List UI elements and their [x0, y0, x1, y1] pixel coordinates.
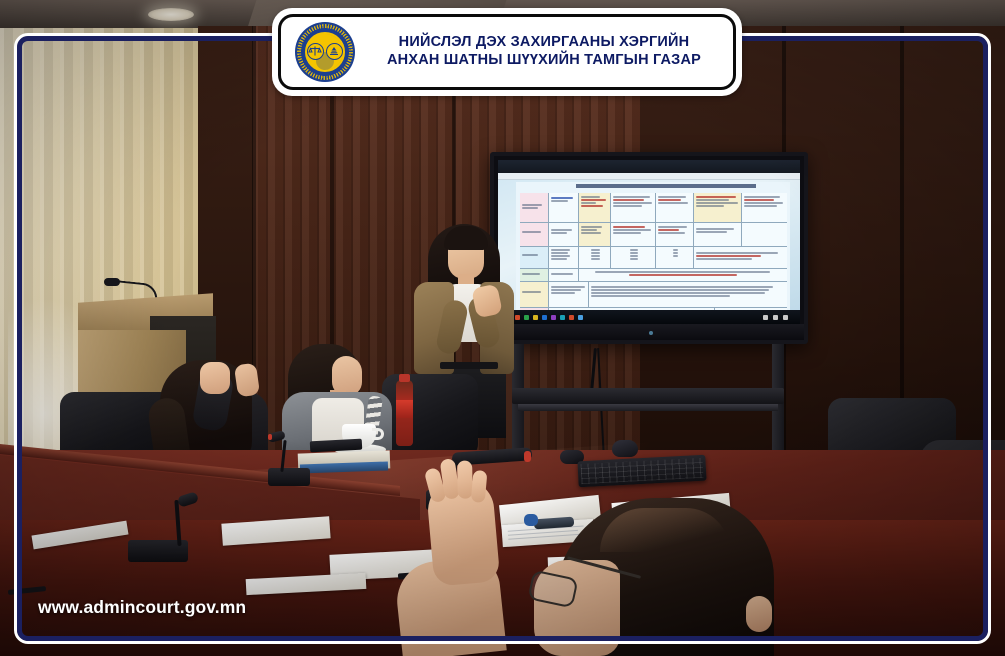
room-photograph	[0, 0, 1005, 656]
attendee-hand-left	[200, 362, 230, 394]
table-cell	[520, 282, 549, 307]
court-seal-logo-icon	[295, 22, 355, 82]
table-cell	[589, 282, 787, 307]
finger	[471, 470, 488, 503]
table-cell	[742, 193, 787, 222]
table-cell	[656, 193, 693, 222]
ceiling-light	[148, 8, 194, 21]
table-cell	[549, 282, 589, 307]
table-row	[520, 247, 787, 269]
keyboard-keys	[581, 458, 704, 484]
foreground-raised-hand	[426, 477, 501, 586]
presentation-display	[490, 152, 808, 344]
table-cell	[611, 193, 656, 222]
table-row	[520, 223, 787, 247]
table-cell	[520, 269, 549, 281]
document-title-line	[576, 184, 756, 188]
microphone-base	[268, 468, 310, 486]
app-title-bar	[498, 160, 800, 173]
bottle-label	[396, 400, 413, 418]
organization-name-line-2: АНХАН ШАТНЫ ШҮҮХИЙН ТАМГЫН ГАЗАР	[365, 52, 723, 70]
table-cell	[520, 193, 549, 222]
table-cell	[579, 247, 611, 268]
table-cell	[694, 223, 742, 246]
presenter-belt	[440, 362, 498, 369]
header-banner: НИЙСЛЭЛ ДЭХ ЗАХИРГААНЫ ХЭРГИЙН АНХАН ШАТ…	[278, 14, 736, 90]
table-cell	[549, 193, 578, 222]
table-row	[520, 282, 787, 308]
display-screen	[498, 160, 800, 324]
foreground-hair-sheen	[600, 508, 730, 552]
table-row	[520, 193, 787, 223]
display-stand-shelf	[512, 388, 784, 404]
spreadsheet-table	[520, 193, 787, 307]
header-banner-text: НИЙСЛЭЛ ДЭХ ЗАХИРГААНЫ ХЭРГИЙН АНХАН ШАТ…	[365, 34, 723, 69]
microphone-indicator	[268, 434, 272, 440]
logo-soyombo-symbol	[326, 43, 343, 60]
table-cell	[579, 223, 611, 246]
table-cell	[656, 247, 693, 268]
spreadsheet-document	[516, 182, 790, 310]
windows-taskbar	[498, 310, 800, 324]
microphone-indicator	[524, 451, 531, 462]
organization-name-line-1: НИЙСЛЭЛ ДЭХ ЗАХИРГААНЫ ХЭРГИЙН	[365, 34, 723, 52]
podium-microphone-head	[104, 278, 120, 286]
screenshot-stage: НИЙСЛЭЛ ДЭХ ЗАХИРГААНЫ ХЭРГИЙН АНХАН ШАТ…	[0, 0, 1005, 656]
table-cell	[579, 193, 611, 222]
table-cell	[611, 247, 656, 268]
table-cell	[549, 247, 578, 268]
table-cell	[549, 223, 578, 246]
logo-scales-symbol	[307, 43, 324, 60]
bottle-cap	[399, 374, 410, 382]
table-cell	[520, 223, 549, 246]
table-cell	[694, 247, 787, 268]
table-cell	[549, 269, 578, 281]
display-stand-shelf-edge	[518, 404, 778, 411]
table-cell	[520, 247, 549, 268]
app-menu-bar	[498, 173, 800, 180]
table-cell	[742, 223, 787, 246]
presenter-hair-front	[444, 226, 488, 250]
computer-mouse	[612, 440, 638, 457]
table-row	[520, 269, 787, 282]
display-power-led	[649, 331, 653, 335]
table-cell	[656, 223, 693, 246]
table-cell	[694, 193, 742, 222]
website-watermark: www.admincourt.gov.mn	[38, 597, 246, 618]
foreground-ear	[746, 596, 772, 632]
table-cell	[579, 269, 787, 281]
cup-handle	[372, 428, 384, 440]
key-fob	[524, 514, 538, 526]
table-cell	[611, 223, 656, 246]
